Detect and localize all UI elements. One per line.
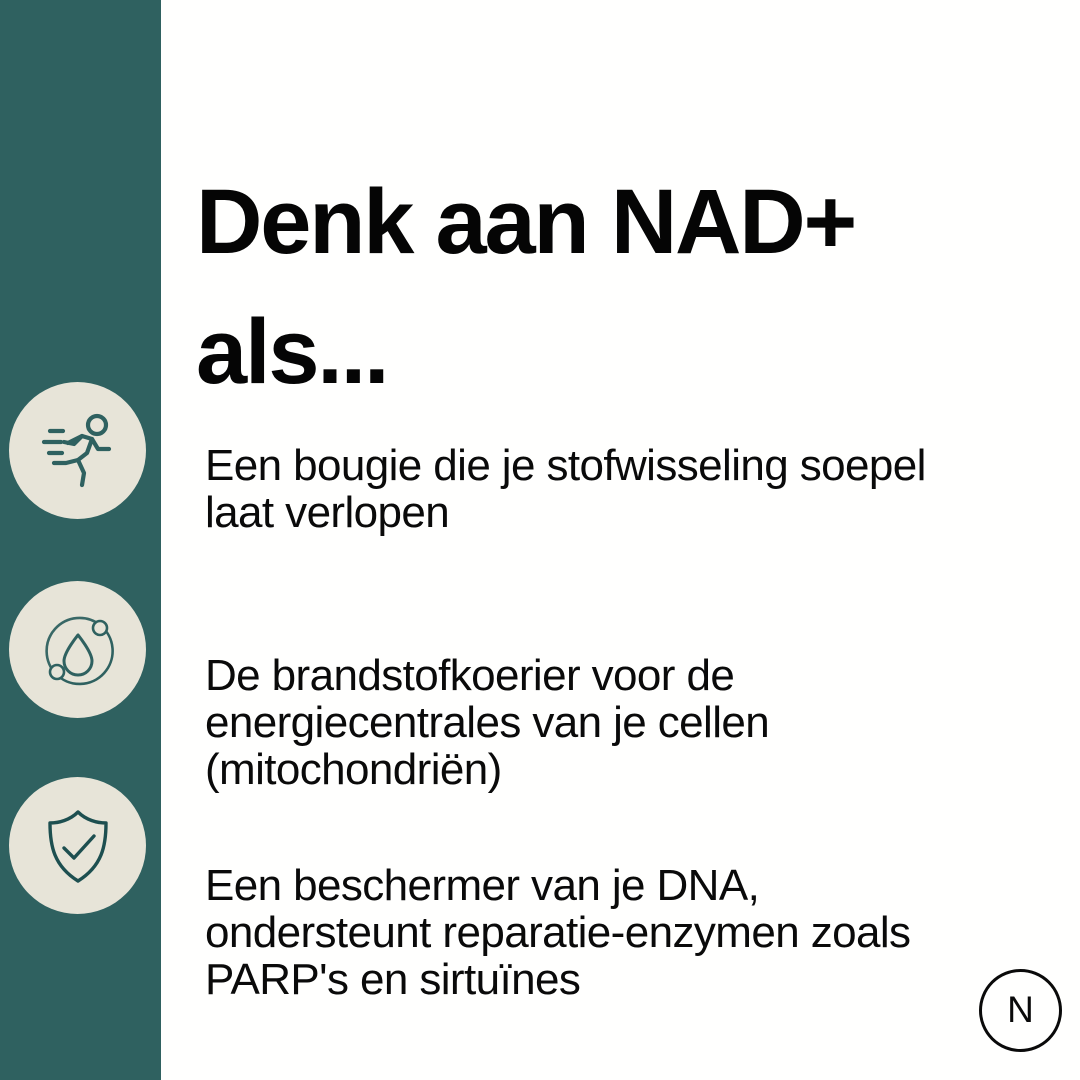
shield-check-icon (30, 798, 126, 894)
energy-droplet-orbit-icon (30, 602, 126, 698)
page-title: Denk aan NAD+ als... (196, 157, 1056, 417)
benefit-list: Een bougie die je stofwisseling soepel l… (205, 398, 975, 1047)
list-item: De brandstofkoerier voor de energiecentr… (205, 652, 975, 793)
list-item: Een bougie die je stofwisseling soepel l… (205, 442, 975, 536)
brand-logo: N (979, 969, 1062, 1052)
brand-logo-letter: N (1007, 991, 1034, 1028)
icon-badge-running (9, 382, 146, 519)
icon-badge-protection (9, 777, 146, 914)
icon-badge-energy (9, 581, 146, 718)
list-item: Een beschermer van je DNA, ondersteunt r… (205, 862, 975, 1003)
page-title-line-1: Denk aan NAD+ (196, 171, 855, 273)
left-accent-rail (0, 0, 161, 1080)
slide-canvas: Denk aan NAD+ als... Een bougie die je s… (0, 0, 1080, 1080)
running-person-icon (30, 403, 126, 499)
